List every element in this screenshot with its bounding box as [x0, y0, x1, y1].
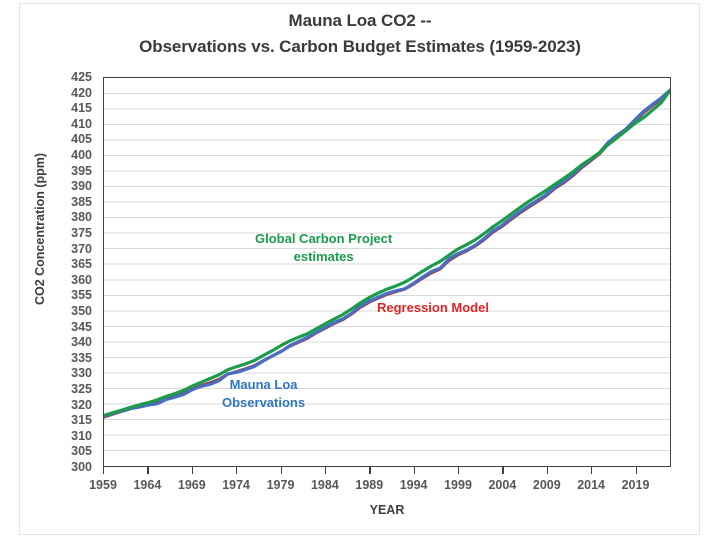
annotation-gcp-line-1: Global Carbon Project — [255, 231, 392, 246]
x-axis-tick-label: 1969 — [178, 478, 206, 492]
y-axis-tick-label: 420 — [71, 86, 92, 100]
x-axis-tick-label: 1979 — [267, 478, 295, 492]
x-axis-tick-label: 2009 — [533, 478, 561, 492]
x-axis-tick-label: 1964 — [133, 478, 161, 492]
y-axis-tick-label: 360 — [71, 273, 92, 287]
y-axis-tick-label: 380 — [71, 210, 92, 224]
y-axis-tick-label: 300 — [71, 460, 92, 474]
y-axis-tick-label: 355 — [71, 288, 92, 302]
x-axis-title: YEAR — [103, 503, 671, 517]
annotation-mlo-line-1: Mauna Loa — [230, 377, 298, 392]
x-axis-tick-mark — [147, 467, 148, 474]
y-axis-tick-label: 375 — [71, 226, 92, 240]
y-axis-tick-label: 415 — [71, 101, 92, 115]
series-lines — [104, 78, 670, 466]
chart-title-line-2: Observations vs. Carbon Budget Estimates… — [40, 34, 680, 60]
x-axis-tick-label: 1984 — [311, 478, 339, 492]
chart-title: Mauna Loa CO2 -- Observations vs. Carbon… — [40, 8, 680, 60]
y-axis-tick-label: 325 — [71, 382, 92, 396]
x-axis-tick-marks — [103, 467, 671, 477]
x-axis-tick-mark — [591, 467, 592, 474]
y-axis-tick-label: 410 — [71, 117, 92, 131]
x-axis-tick-label: 1994 — [400, 478, 428, 492]
x-axis-tick-mark — [369, 467, 370, 474]
y-axis-tick-label: 345 — [71, 320, 92, 334]
y-axis-tick-label: 390 — [71, 179, 92, 193]
x-axis-tick-mark — [414, 467, 415, 474]
y-axis-tick-label: 330 — [71, 366, 92, 380]
annotation-regression-model: Regression Model — [377, 299, 489, 317]
x-axis-tick-label: 1999 — [444, 478, 472, 492]
annotation-mlo-line-2: Observations — [222, 394, 305, 412]
x-axis-tick-mark — [281, 467, 282, 474]
x-axis-tick-mark — [547, 467, 548, 474]
y-axis-tick-label: 370 — [71, 242, 92, 256]
annotation-mauna-loa-observations: Mauna Loa Observations — [222, 376, 305, 412]
x-axis-tick-label: 2019 — [622, 478, 650, 492]
x-axis-tick-label: 1974 — [222, 478, 250, 492]
y-axis-tick-label: 365 — [71, 257, 92, 271]
y-axis-tick-label: 395 — [71, 164, 92, 178]
x-axis-tick-mark — [636, 467, 637, 474]
y-axis-tick-label: 400 — [71, 148, 92, 162]
chart-title-line-1: Mauna Loa CO2 -- — [289, 11, 432, 30]
plot-area — [103, 77, 671, 467]
x-axis-tick-mark — [236, 467, 237, 474]
y-axis-tick-label: 385 — [71, 195, 92, 209]
x-axis-tick-mark — [458, 467, 459, 474]
x-axis-tick-labels: 1959196419691974197919841989199419992004… — [43, 478, 703, 500]
chart-page: Mauna Loa CO2 -- Observations vs. Carbon… — [0, 0, 720, 540]
annotation-regression-label: Regression Model — [377, 300, 489, 315]
x-axis-tick-label: 2014 — [577, 478, 605, 492]
y-axis-tick-label: 305 — [71, 444, 92, 458]
y-axis-tick-label: 310 — [71, 429, 92, 443]
y-axis-tick-label: 315 — [71, 413, 92, 427]
y-axis-tick-label: 335 — [71, 351, 92, 365]
x-axis-tick-label: 1959 — [89, 478, 117, 492]
y-axis-tick-label: 405 — [71, 132, 92, 146]
x-axis-tick-mark — [192, 467, 193, 474]
y-axis-tick-label: 425 — [71, 70, 92, 84]
y-axis-title: CO2 Concentration (ppm) — [33, 129, 47, 329]
x-axis-tick-mark — [502, 467, 503, 474]
annotation-gcp-line-2: estimates — [255, 248, 392, 266]
x-axis-tick-mark — [325, 467, 326, 474]
x-axis-tick-label: 1989 — [355, 478, 383, 492]
x-axis-tick-mark — [103, 467, 104, 474]
y-axis-tick-label: 320 — [71, 398, 92, 412]
y-axis-tick-label: 350 — [71, 304, 92, 318]
y-axis-tick-label: 340 — [71, 335, 92, 349]
x-axis-tick-label: 2004 — [488, 478, 516, 492]
annotation-global-carbon-project: Global Carbon Project estimates — [255, 230, 392, 266]
